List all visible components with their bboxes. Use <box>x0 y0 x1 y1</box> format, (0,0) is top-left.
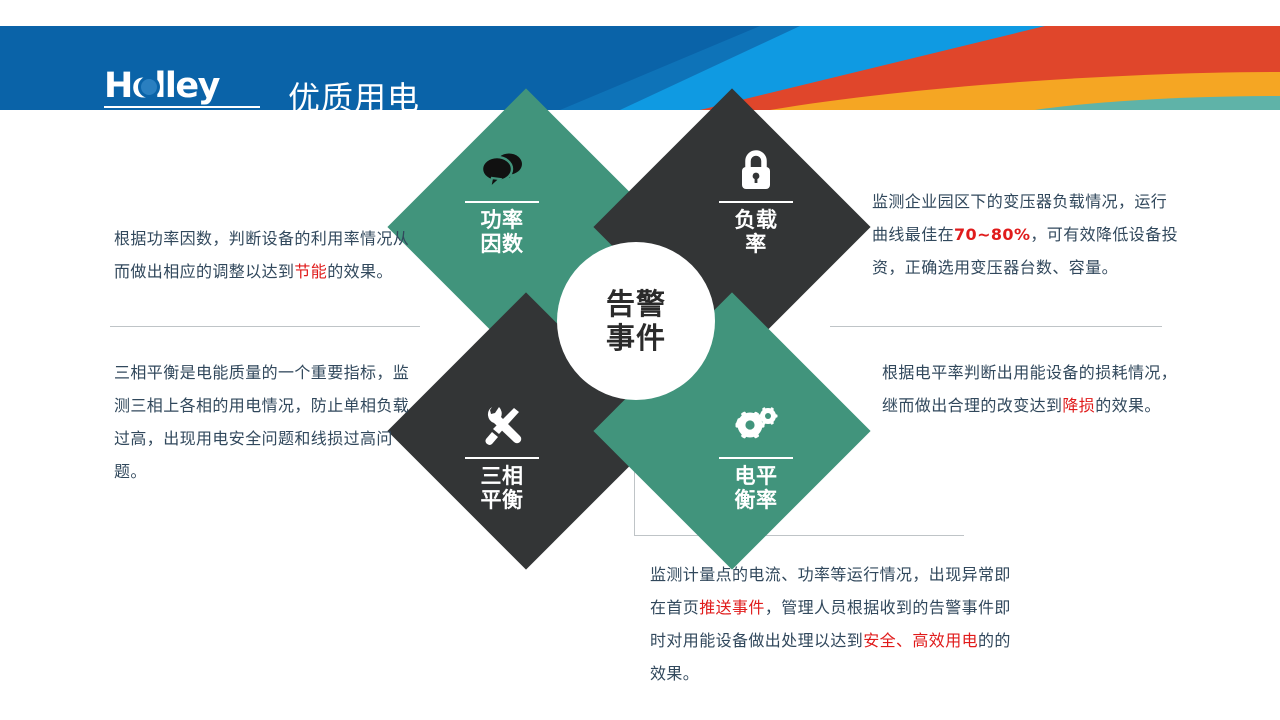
diamond-three-phase-label: 三相 平衡 <box>481 464 524 512</box>
description-power-factor: 根据功率因数，判断设备的利用率情况从而做出相应的调整以达到节能的效果。 <box>114 222 420 288</box>
lock-icon <box>733 147 779 193</box>
diamond-cluster: 功率 因数 负载 率 <box>420 125 840 525</box>
description-power-factor-part2: 的效果。 <box>327 262 393 281</box>
description-alarm-event-highlight1: 推送事件 <box>699 598 765 617</box>
diamond-power-factor-content: 功率 因数 <box>404 103 600 299</box>
speech-bubbles-icon <box>479 147 525 193</box>
divider-left <box>110 326 420 327</box>
diamond-level-balance-content: 电平 衡率 <box>658 359 854 555</box>
description-load-rate-highlight: 70~80% <box>954 225 1030 244</box>
description-three-phase-text: 三相平衡是电能质量的一个重要指标，监测三相上各相的用电情况，防止单相负载过高，出… <box>114 363 409 481</box>
description-level-balance: 根据电平率判断出用能设备的损耗情况，继而做出合理的改变达到降损的效果。 <box>882 356 1182 422</box>
gears-icon <box>733 403 779 449</box>
diamond-three-phase-rule <box>465 457 539 459</box>
diamond-level-balance-rule <box>719 457 793 459</box>
diamond-load-rate-label: 负载 率 <box>735 208 778 256</box>
description-level-balance-highlight: 降损 <box>1062 396 1095 415</box>
holley-logo: Holley TECH 华立科技 <box>104 70 260 110</box>
diamond-three-phase-content: 三相 平衡 <box>404 359 600 555</box>
tools-icon <box>479 403 525 449</box>
header-banner: Holley TECH 华立科技 优质用电 <box>0 26 1280 110</box>
description-three-phase: 三相平衡是电能质量的一个重要指标，监测三相上各相的用电情况，防止单相负载过高，出… <box>114 356 420 488</box>
description-load-rate: 监测企业园区下的变压器负载情况，运行曲线最佳在70~80%，可有效降低设备投资，… <box>872 185 1182 284</box>
description-alarm-event: 监测计量点的电流、功率等运行情况，出现异常即在首页推送事件，管理人员根据收到的告… <box>650 558 1022 690</box>
center-hub: 告警 事件 <box>557 242 715 400</box>
diamond-power-factor-label: 功率 因数 <box>481 208 524 256</box>
divider-right <box>830 326 1162 327</box>
page-title: 优质用电 <box>288 78 420 110</box>
description-level-balance-part2: 的效果。 <box>1095 396 1161 415</box>
diamond-power-factor-rule <box>465 201 539 203</box>
description-power-factor-highlight: 节能 <box>294 262 327 281</box>
description-alarm-event-highlight2: 安全、高效用电 <box>863 631 978 650</box>
logo-wordmark-text: Holley <box>104 66 219 106</box>
diamond-level-balance-label: 电平 衡率 <box>735 464 778 512</box>
slide-root: Holley TECH 华立科技 优质用电 <box>0 0 1280 720</box>
diamond-load-rate-rule <box>719 201 793 203</box>
center-hub-label: 告警 事件 <box>606 287 666 355</box>
logo-subline: TECH 华立科技 <box>104 106 260 110</box>
logo-wordmark: Holley <box>104 70 260 103</box>
